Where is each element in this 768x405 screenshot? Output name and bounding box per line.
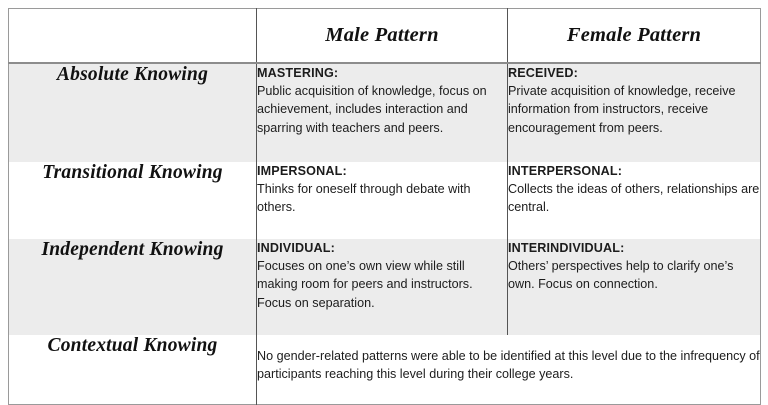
cell-body: Private acquisition of knowledge, receiv… (508, 82, 760, 137)
row-label-transitional-knowing: Transitional Knowing (9, 162, 257, 239)
cell-lead: MASTERING: (257, 64, 507, 82)
cell-lead: RECEIVED: (508, 64, 760, 82)
row-label-absolute-knowing: Absolute Knowing (9, 63, 257, 162)
cell-body: Collects the ideas of others, relationsh… (508, 180, 760, 216)
cell-independent-male: INDIVIDUAL: Focuses on one’s own view wh… (257, 239, 508, 335)
cell-body: Thinks for oneself through debate with o… (257, 180, 507, 216)
table-row: Contextual Knowing No gender-related pat… (9, 335, 761, 405)
cell-absolute-female: RECEIVED: Private acquisition of knowled… (508, 63, 761, 162)
cell-independent-female: INTERINDIVIDUAL: Others’ perspectives he… (508, 239, 761, 335)
cell-body: Others’ perspectives help to clarify one… (508, 257, 760, 293)
table-page: Male Pattern Female Pattern Absolute Kno… (0, 0, 768, 402)
row-label-independent-knowing: Independent Knowing (9, 239, 257, 335)
table-head: Male Pattern Female Pattern (9, 9, 761, 64)
column-header-male-pattern: Male Pattern (257, 9, 508, 64)
cell-absolute-male: MASTERING: Public acquisition of knowled… (257, 63, 508, 162)
cell-lead: INTERINDIVIDUAL: (508, 239, 760, 257)
table-row: Absolute Knowing MASTERING: Public acqui… (9, 63, 761, 162)
cell-body: No gender-related patterns were able to … (257, 347, 760, 383)
row-label-contextual-knowing: Contextual Knowing (9, 335, 257, 405)
cell-transitional-male: IMPERSONAL: Thinks for oneself through d… (257, 162, 508, 239)
cell-lead: INDIVIDUAL: (257, 239, 507, 257)
column-header-level (9, 9, 257, 64)
cell-contextual-span: No gender-related patterns were able to … (257, 335, 761, 405)
cell-lead: IMPERSONAL: (257, 162, 507, 180)
table-body: Absolute Knowing MASTERING: Public acqui… (9, 63, 761, 405)
column-header-female-pattern: Female Pattern (508, 9, 761, 64)
cell-lead: INTERPERSONAL: (508, 162, 760, 180)
cell-body: Focuses on one’s own view while still ma… (257, 257, 507, 312)
table-row: Transitional Knowing IMPERSONAL: Thinks … (9, 162, 761, 239)
table-header-row: Male Pattern Female Pattern (9, 9, 761, 64)
knowing-patterns-table: Male Pattern Female Pattern Absolute Kno… (8, 8, 761, 405)
cell-transitional-female: INTERPERSONAL: Collects the ideas of oth… (508, 162, 761, 239)
table-row: Independent Knowing INDIVIDUAL: Focuses … (9, 239, 761, 335)
cell-body: Public acquisition of knowledge, focus o… (257, 82, 507, 137)
